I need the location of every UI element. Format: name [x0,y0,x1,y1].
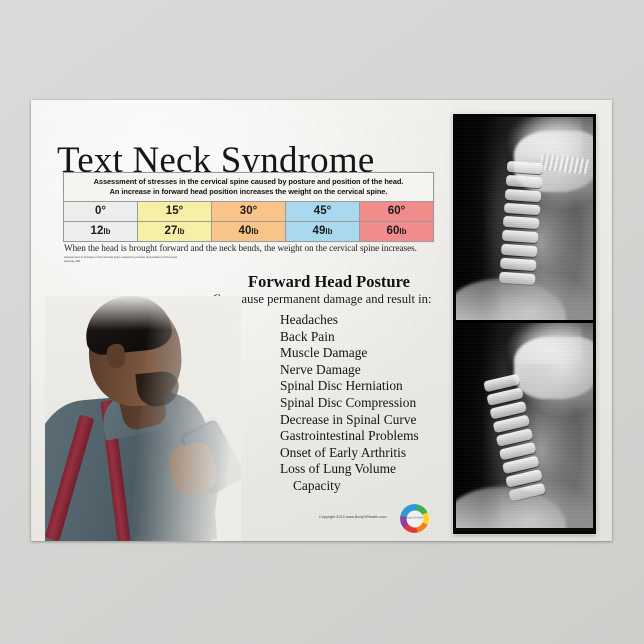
table-caption-line1: Assessment of stresses in the cervical s… [94,177,404,186]
xray-image-bottom [456,323,593,528]
xray-vertebra [499,257,535,270]
list-item: Onset of Early Arthritis [280,445,460,462]
list-item: Headaches [280,312,460,329]
table-row-weights: 12lb 27lb 40lb 49lb 60lb [64,222,434,242]
angle-cell-30: 30° [212,202,286,222]
list-item: Decrease in Spinal Curve [280,412,460,429]
xray-vertebra [502,216,538,229]
weight-value-60: 60 [387,225,400,237]
xray-vertebra [501,230,537,243]
xray-vertebra [506,161,542,174]
list-item: Muscle Damage [280,345,460,362]
weight-unit-0: lb [103,227,110,236]
xray-image-top [456,117,593,320]
logo-hub-text: Body of Health [406,517,423,520]
xray-mandible [514,337,593,399]
weight-value-15: 27 [165,225,178,237]
weight-cell-60: 60lb [360,222,434,242]
man-with-phone-photo [45,296,241,541]
xray-vertebra [505,174,541,187]
weight-unit-15: lb [177,227,184,236]
table-note: When the head is brought forward and the… [64,243,436,253]
poster-left-column: Text Neck Syndrome Assessment of stresse… [31,100,451,541]
table-row-angles: 0° 15° 30° 45° 60° [64,202,434,222]
list-item: Nerve Damage [280,362,460,379]
list-item: Spinal Disc Herniation [280,378,460,395]
angle-cell-0: 0° [64,202,138,222]
weight-unit-60: lb [399,227,406,236]
brand-logo-icon: Body of Health [400,504,429,533]
wall-background: Text Neck Syndrome Assessment of stresse… [0,0,644,644]
list-item: Spinal Disc Compression [280,395,460,412]
list-item: Back Pain [280,329,460,346]
table-caption-cell: Assessment of stresses in the cervical s… [64,173,434,202]
table-credit: Assessment of stresses in the cervical s… [64,255,304,263]
weight-cell-0: 12lb [64,222,138,242]
poster: Text Neck Syndrome Assessment of stresse… [31,100,612,541]
table-credit-line2: Hansraj, MD [64,259,304,263]
list-item: Capacity [280,478,460,495]
xray-vertebra [504,188,540,201]
angle-cell-60: 60° [360,202,434,222]
table-caption-line2: An increase in forward head position inc… [110,187,388,196]
weight-cell-30: 40lb [212,222,286,242]
weight-value-0: 12 [91,225,104,237]
xray-vertebra [503,202,539,215]
list-item: Gastrointestinal Problems [280,428,460,445]
symptom-list: Headaches Back Pain Muscle Damage Nerve … [280,312,460,495]
forward-head-posture-heading: Forward Head Posture [207,272,451,292]
weight-unit-30: lb [251,227,258,236]
list-item: Loss of Lung Volume [280,461,460,478]
table-caption-row: Assessment of stresses in the cervical s… [64,173,434,202]
weight-value-45: 49 [313,225,326,237]
xray-frame [453,114,596,534]
weight-cell-15: 27lb [138,222,212,242]
xray-vertebra [500,243,536,256]
cervical-stress-table: Assessment of stresses in the cervical s… [63,172,434,242]
angle-cell-15: 15° [138,202,212,222]
weight-value-30: 40 [239,225,252,237]
angle-cell-45: 45° [286,202,360,222]
copyright-text: Copyright 2013 www.BodyOfHealth.com [319,515,387,519]
weight-cell-45: 49lb [286,222,360,242]
weight-unit-45: lb [325,227,332,236]
